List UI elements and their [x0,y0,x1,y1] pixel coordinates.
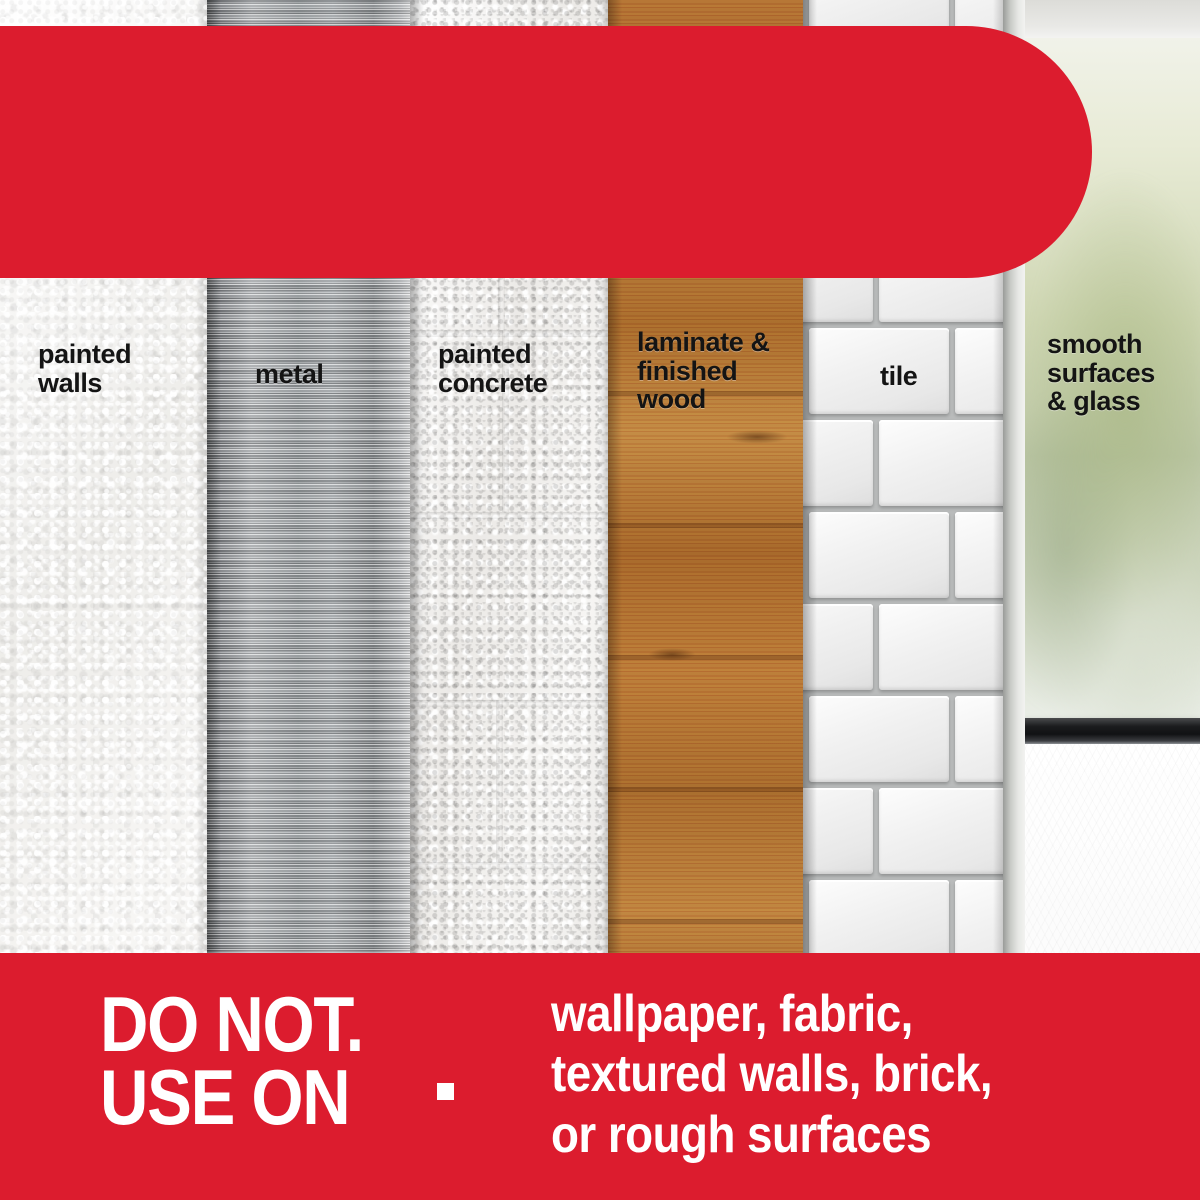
tile-unit [955,328,1003,414]
tile-unit [879,788,1003,874]
do-not-use-on-heading: DO NOT. USE ON [100,988,406,1135]
tile-unit [955,696,1003,782]
tile-unit [803,420,873,506]
mortar-joint [496,700,503,862]
surface-label-tile: tile [880,362,917,391]
tile-unit [803,788,873,874]
tile-unit [879,604,1003,690]
window-frame-bar [1003,718,1200,744]
tile-unit [803,604,873,690]
window-head-trim [1003,0,1200,38]
avoid-surfaces-list: wallpaper, fabric, textured walls, brick… [551,984,1052,1165]
surface-label-painted-concrete: painted concrete [438,340,547,397]
tile-unit [955,512,1003,598]
surface-label-metal: metal [255,360,324,389]
mortar-joint [410,512,608,519]
tile-unit [809,512,949,598]
surface-label-smooth-glass: smooth surfaces & glass [1047,330,1155,416]
top-banner [0,26,1092,278]
mortar-joint [410,700,608,707]
avoid-line-2: textured walls, brick, [551,1044,992,1104]
tile-unit [879,420,1003,506]
surface-label-painted-walls: painted walls [38,340,131,397]
do-not-line-1: DO NOT. [100,988,363,1061]
wood-knot [726,430,788,444]
mortar-joint [410,862,608,869]
infographic-canvas: painted walls metal painted concrete lam… [0,0,1200,1200]
colon-upper-dot [437,1083,454,1100]
do-not-line-2: USE ON [100,1061,363,1134]
avoid-line-1: wallpaper, fabric, [551,984,992,1044]
wood-knot [648,648,696,661]
mortar-joint [410,330,608,337]
avoid-line-3: or rough surfaces [551,1105,992,1165]
tile-unit [809,696,949,782]
tile-unit [809,328,949,414]
surface-label-laminate-wood: laminate & finished wood [637,328,770,414]
